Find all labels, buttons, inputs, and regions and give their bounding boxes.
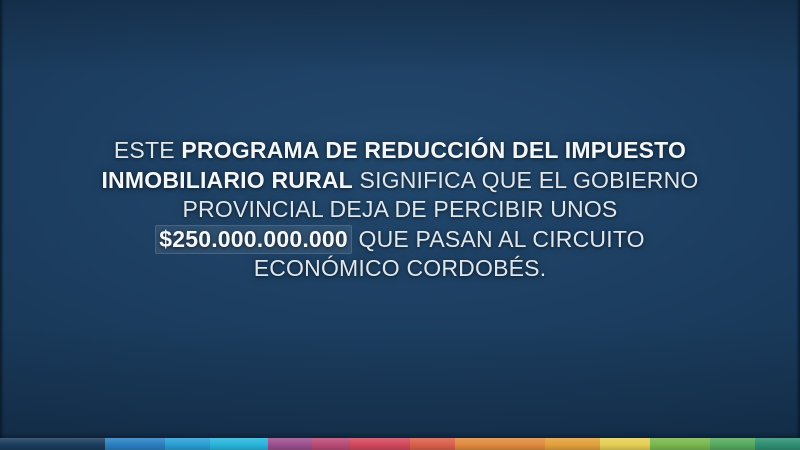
color-bar-segment-magenta — [312, 438, 350, 450]
caption-line-2: INMOBILIARIO RURAL SIGNIFICA QUE EL GOBI… — [0, 166, 800, 196]
color-bar-segment-crimson — [350, 438, 410, 450]
color-bar-segment-orange — [455, 438, 545, 450]
color-bar-segment-blue — [105, 438, 165, 450]
brand-color-bar — [0, 438, 800, 450]
color-bar-segment-azure — [165, 438, 210, 450]
color-bar-segment-teal — [755, 438, 800, 450]
caption-line-4: $250.000.000.000 QUE PASAN AL CIRCUITO — [0, 225, 800, 255]
caption-line-1-prefix: ESTE — [114, 137, 181, 163]
caption-line-1-bold: PROGRAMA DE REDUCCIÓN DEL IMPUESTO — [181, 137, 686, 163]
color-bar-segment-navy — [0, 438, 105, 450]
caption-line-4-rest: QUE PASAN AL CIRCUITO — [352, 226, 645, 252]
caption-line-2-bold: INMOBILIARIO RURAL — [101, 167, 352, 193]
highlighted-amount: $250.000.000.000 — [155, 225, 352, 254]
caption-block: ESTE PROGRAMA DE REDUCCIÓN DEL IMPUESTO … — [0, 136, 800, 284]
color-bar-segment-amber — [545, 438, 600, 450]
color-bar-segment-green — [650, 438, 710, 450]
color-bar-segment-purple — [268, 438, 312, 450]
color-bar-segment-grass — [710, 438, 755, 450]
caption-line-1: ESTE PROGRAMA DE REDUCCIÓN DEL IMPUESTO — [0, 136, 800, 166]
caption-line-3: PROVINCIAL DEJA DE PERCIBIR UNOS — [0, 195, 800, 225]
caption-line-5: ECONÓMICO CORDOBÉS. — [0, 254, 800, 284]
color-bar-segment-yellow — [600, 438, 650, 450]
color-bar-segment-red — [410, 438, 455, 450]
caption-line-5-text: ECONÓMICO CORDOBÉS. — [254, 255, 547, 281]
video-frame: ESTE PROGRAMA DE REDUCCIÓN DEL IMPUESTO … — [0, 0, 800, 450]
caption-line-3-text: PROVINCIAL DEJA DE PERCIBIR UNOS — [183, 196, 618, 222]
color-bar-segment-cyan — [210, 438, 268, 450]
caption-line-2-rest: SIGNIFICA QUE EL GOBIERNO — [353, 167, 699, 193]
